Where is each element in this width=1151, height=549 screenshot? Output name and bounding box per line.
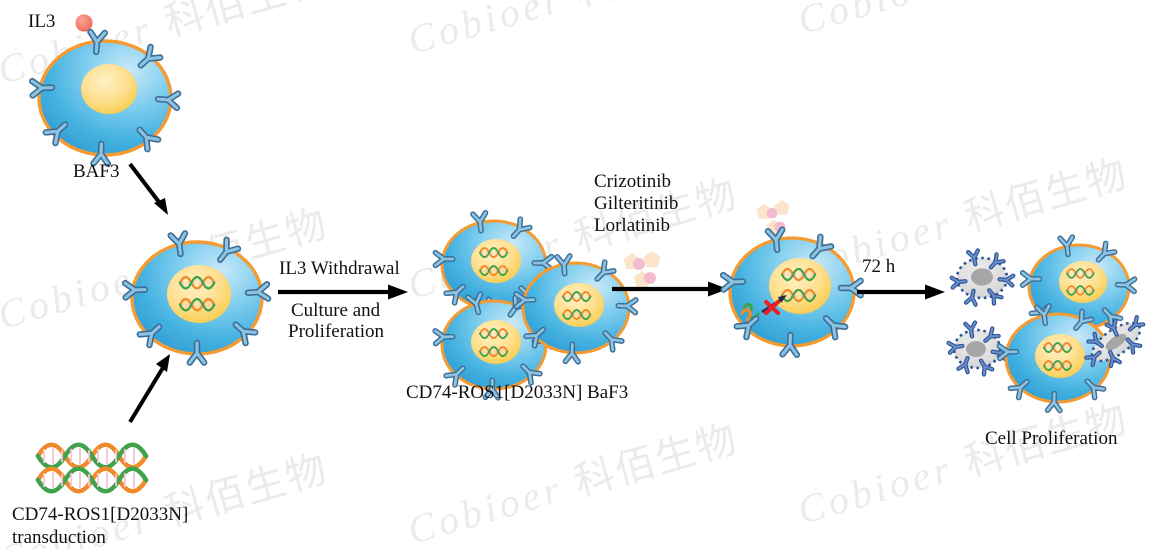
outcome-label: Cell Proliferation — [985, 427, 1117, 451]
arrow-transduction-to-cell — [120, 344, 184, 428]
cell-drug-treated — [710, 228, 874, 358]
drug-label-crizotinib: Crizotinib — [594, 170, 671, 194]
apoptotic-cell-icon — [1078, 306, 1151, 378]
watermark: Cobioer科佰生物 — [400, 406, 744, 549]
dna-transduction-icon — [34, 440, 164, 502]
transduction-label-line2: transduction — [12, 526, 106, 549]
step1-below-label-line2: Proliferation — [288, 320, 384, 344]
drug-label-gilteritinib: Gilteritinib — [594, 192, 678, 216]
incubation-label: 72 h — [862, 255, 895, 279]
watermark: Cobioer科佰生物 — [790, 0, 1134, 46]
cell-baf3 — [20, 34, 190, 164]
diagram-canvas: Cobioer科佰生物 Cobioer科佰生物 Cobioer科佰生物 Cobi… — [0, 0, 1151, 549]
baf3-label: BAF3 — [73, 160, 119, 184]
arrow-baf3-to-transduced — [124, 160, 184, 222]
transduction-label-line1: CD74-ROS1[D2033N] — [12, 503, 188, 527]
drug-label-lorlatinib: Lorlatinib — [594, 214, 670, 238]
cellline-label: CD74-ROS1[D2033N] BaF3 — [406, 381, 628, 405]
step1-above-label: IL3 Withdrawal — [279, 257, 400, 281]
watermark: Cobioer科佰生物 — [400, 0, 744, 66]
arrow-72h — [855, 283, 951, 305]
il3-label: IL3 — [28, 10, 55, 34]
